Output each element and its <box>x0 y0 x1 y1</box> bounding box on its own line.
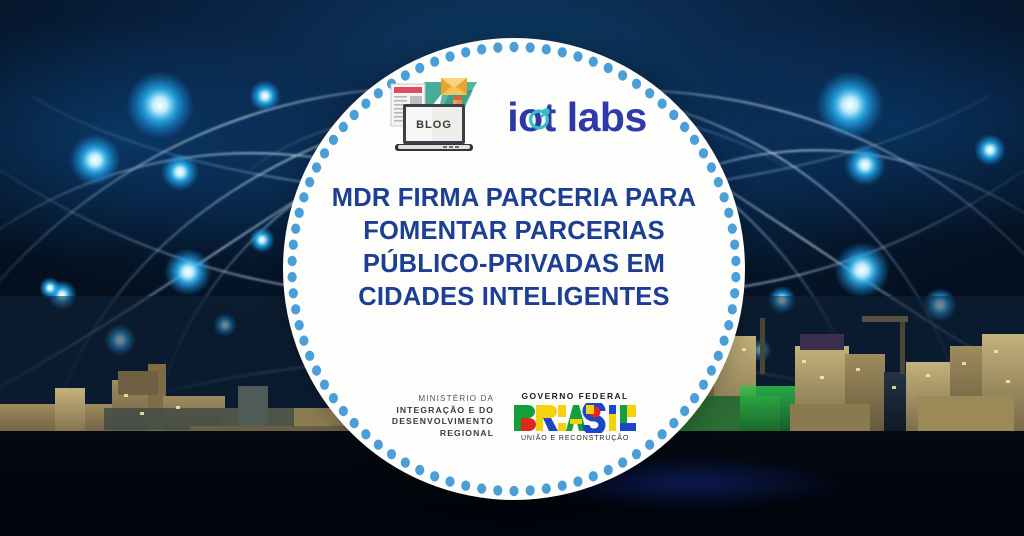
brand-text-labs: labs <box>567 94 647 140</box>
social-card-graphic: BLOG iot labs <box>0 0 1024 536</box>
page-title: MDR FIRMA PARCERIA PARA FOMENTAR PARCERI… <box>319 182 709 315</box>
ministry-line-2: INTEGRAÇÃO E DO <box>392 405 494 417</box>
ministry-line-1: MINISTÉRIO DA <box>392 394 494 405</box>
government-logos: MINISTÉRIO DA INTEGRAÇÃO E DO DESENVOLVI… <box>283 391 745 442</box>
headline-line-4: CIDADES INTELIGENTES <box>319 281 709 314</box>
ministry-line-4: REGIONAL <box>392 428 494 440</box>
ministry-logo: MINISTÉRIO DA INTEGRAÇÃO E DO DESENVOLVI… <box>392 394 494 440</box>
headline-line-1: MDR FIRMA PARCERIA PARA <box>319 182 709 215</box>
headline-line-3: PÚBLICO-PRIVADAS EM <box>319 248 709 281</box>
headline-line-2: FOMENTAR PARCERIAS <box>319 215 709 248</box>
svg-text:BLOG: BLOG <box>416 119 452 131</box>
ministry-line-3: DESENVOLVIMENTO <box>392 416 494 428</box>
brand-logo: BLOG iot labs <box>283 76 745 158</box>
governo-federal-logo: GOVERNO FEDERAL <box>514 391 636 442</box>
uniao-reconstrucao-label: UNIÃO E RECONSTRUÇÃO <box>521 435 629 442</box>
blog-laptop-illustration-icon: BLOG <box>381 76 493 158</box>
brasil-wordmark-icon <box>514 403 636 433</box>
brand-wordmark: iot labs <box>507 97 647 138</box>
governo-federal-label: GOVERNO FEDERAL <box>521 391 628 401</box>
brand-text-iot: iot <box>507 94 556 140</box>
